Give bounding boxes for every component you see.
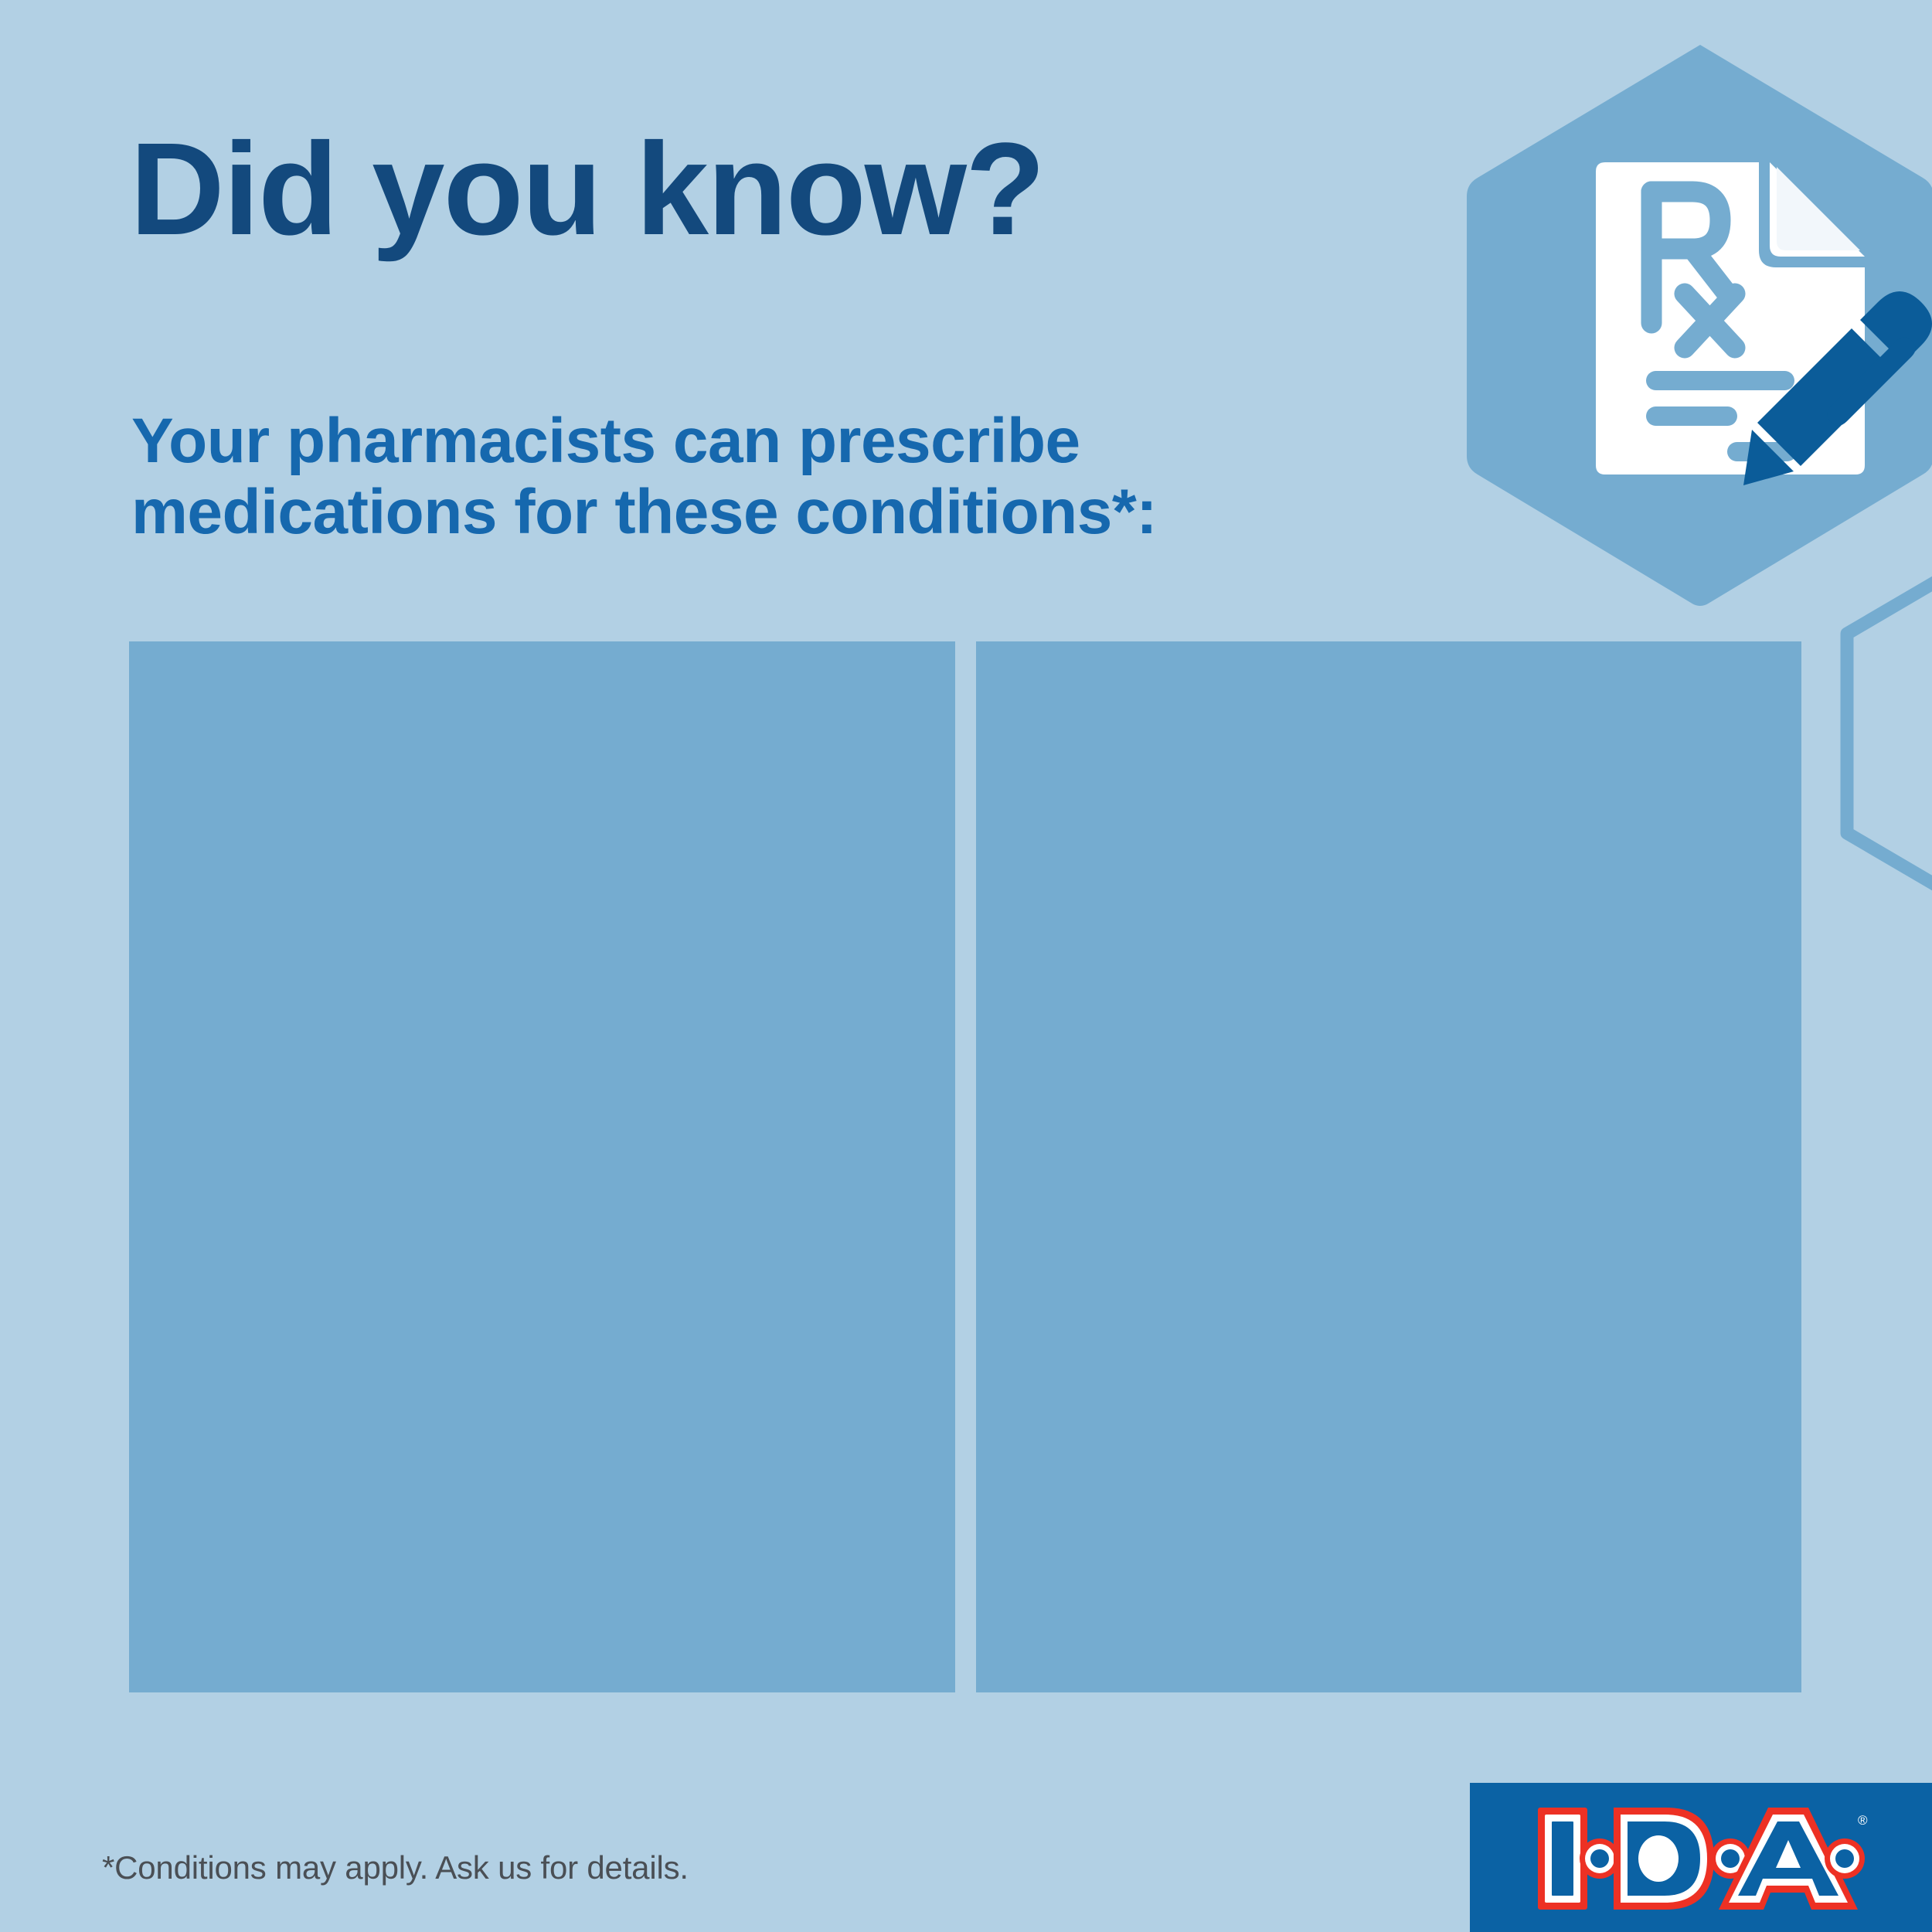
brand-logo-block: ®	[1470, 1783, 1932, 1932]
page-subtitle: Your pharmacists can prescribe medicatio…	[131, 406, 1157, 548]
poster-canvas: Did you know? Your pharmacists can presc…	[0, 0, 1932, 1932]
footnote-disclaimer: *Conditions may apply. Ask us for detail…	[102, 1849, 689, 1887]
rx-prescription-document-pen-icon	[1461, 39, 1932, 614]
page-subtitle-line-2: medications for these conditions*:	[131, 477, 1157, 548]
conditions-panel-right[interactable]	[976, 641, 1801, 1692]
registered-trademark-icon: ®	[1858, 1813, 1868, 1828]
ida-logo-letter-d	[1614, 1808, 1714, 1910]
conditions-panel-left[interactable]	[129, 641, 955, 1692]
conditions-panels	[129, 641, 1801, 1692]
page-title: Did you know?	[130, 124, 1044, 255]
page-subtitle-line-1: Your pharmacists can prescribe	[131, 406, 1157, 477]
ida-pharmacy-logo: ®	[1536, 1804, 1876, 1913]
ida-logo-dot-3	[1825, 1838, 1865, 1879]
